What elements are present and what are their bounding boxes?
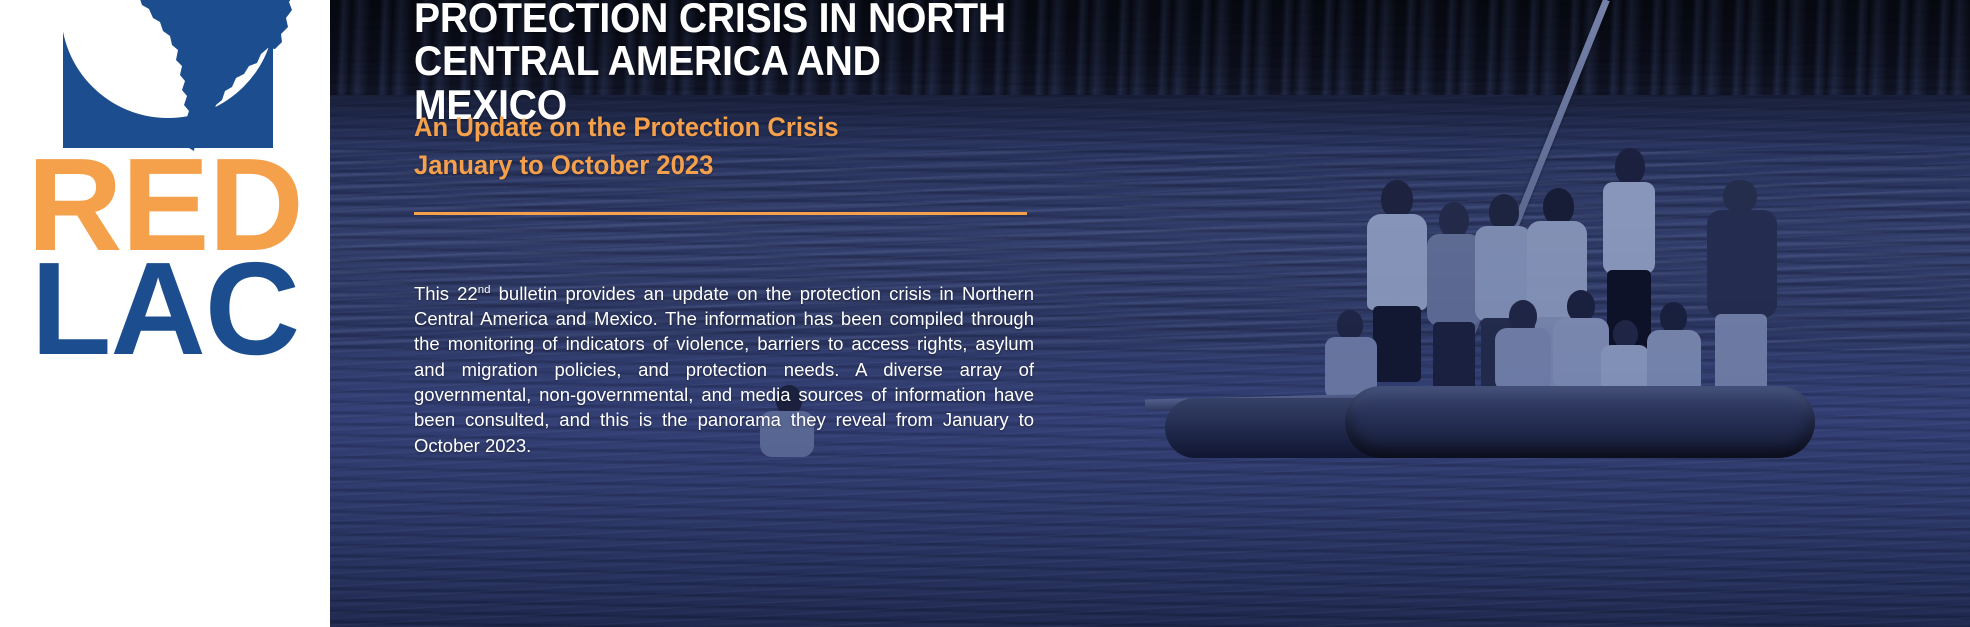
page-subtitle-line1: An Update on the Protection Crisis (414, 108, 1041, 146)
redlac-logo: RED LAC (0, 0, 330, 452)
header-text-block: PROTECTION CRISIS IN NORTH CENTRAL AMERI… (414, 0, 1034, 627)
paragraph-prefix: This 22 (414, 283, 478, 304)
logo-word-lac: LAC (0, 252, 330, 366)
logo-panel: RED LAC (0, 0, 330, 627)
orange-divider (414, 212, 1027, 215)
page-subtitle: An Update on the Protection Crisis Janua… (414, 108, 1041, 185)
paragraph-ordinal: nd (478, 283, 491, 295)
bulletin-banner: RED LAC PROTECTION CRISIS IN NORTH CENTR… (0, 0, 1970, 627)
intro-paragraph: This 22nd bulletin provides an update on… (414, 281, 1034, 458)
page-subtitle-line2: January to October 2023 (414, 146, 1041, 184)
page-title: PROTECTION CRISIS IN NORTH CENTRAL AMERI… (414, 0, 1028, 126)
paragraph-rest: bulletin provides an update on the prote… (414, 283, 1034, 456)
page-title-line1: PROTECTION CRISIS IN NORTH (414, 0, 1028, 39)
